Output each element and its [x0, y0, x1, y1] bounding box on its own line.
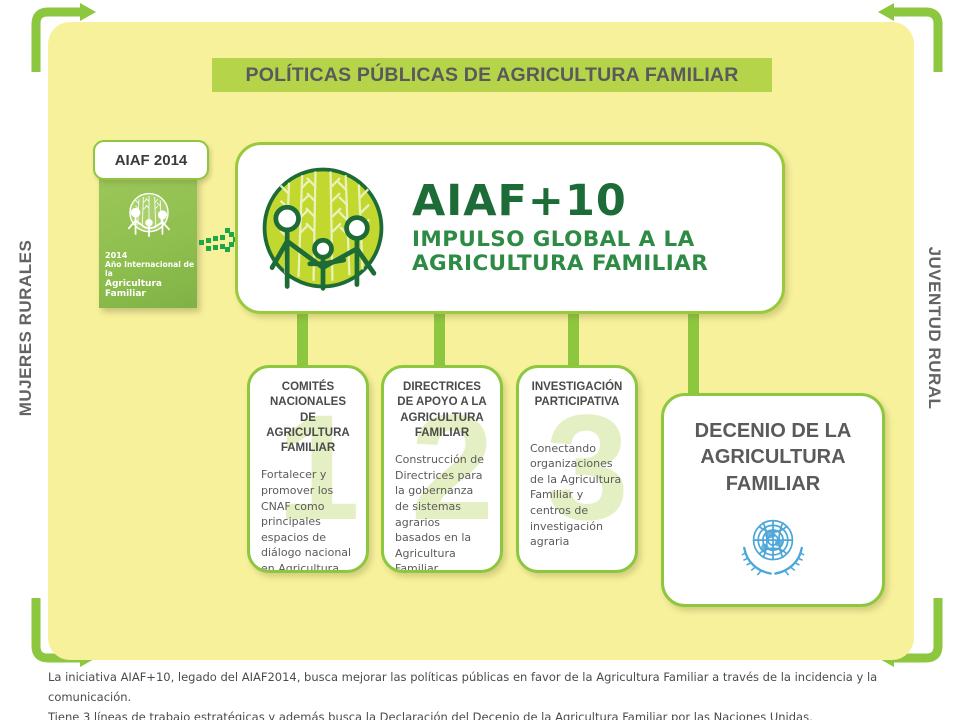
- side-label-mujeres-rurales: MUJERES RURALES: [16, 218, 36, 438]
- aiaf-plus-10-logo-box[interactable]: AIAF+10 IMPULSO GLOBAL A LA AGRICULTURA …: [235, 142, 785, 314]
- side-label-juventud-rural: JUVENTUD RURAL: [924, 218, 944, 438]
- logo-title: AIAF+10: [412, 180, 708, 223]
- logo-subtitle-line-1: IMPULSO GLOBAL A LA: [412, 228, 708, 253]
- aiaf-2014-chip-label: AIAF 2014: [115, 152, 188, 169]
- decenio-title: DECENIO DE LA AGRICULTURA FAMILIAR: [664, 418, 882, 497]
- footer-note: La iniciativa AIAF+10, legado del AIAF20…: [48, 668, 928, 720]
- strategy-card-2[interactable]: 2 DIRECTRICES DE APOYO A LA AGRICULTURA …: [381, 365, 503, 573]
- connector-line-decenio: [688, 300, 699, 400]
- poster-line-2: Año Internacional de la: [105, 261, 197, 279]
- card-2-title: DIRECTRICES DE APOYO A LA AGRICULTURA FA…: [395, 380, 489, 441]
- card-1-title: COMITÉS NACIONALES DE AGRICULTURA FAMILI…: [261, 380, 355, 456]
- infographic-root: MUJERES RURALES JUVENTUD RURAL POLÍTICAS…: [0, 0, 960, 720]
- family-globe-icon: [121, 188, 177, 244]
- card-3-body: Conectando organizaciones de la Agricult…: [530, 441, 624, 550]
- poster-line-3: Agricultura Familiar: [105, 279, 197, 300]
- decenio-box[interactable]: DECENIO DE LA AGRICULTURA FAMILIAR: [661, 393, 885, 607]
- footer-line-2: Tiene 3 líneas de trabajo estratégicas y…: [48, 708, 928, 720]
- card-2-body: Construcción de Directrices para la gobe…: [395, 452, 489, 573]
- card-3-title: INVESTIGACIÓN PARTICIPATIVA: [530, 380, 624, 411]
- card-1-body: Fortalecer y promover los CNAF como prin…: [261, 467, 355, 573]
- strategy-card-1[interactable]: 1 COMITÉS NACIONALES DE AGRICULTURA FAMI…: [247, 365, 369, 573]
- page-title-text: POLÍTICAS PÚBLICAS DE AGRICULTURA FAMILI…: [246, 64, 739, 87]
- united-nations-emblem-icon: [734, 509, 812, 584]
- aiaf-2014-poster[interactable]: 2014 Año Internacional de la Agricultura…: [99, 176, 197, 308]
- strategy-card-3[interactable]: 3 INVESTIGACIÓN PARTICIPATIVA Conectando…: [516, 365, 638, 573]
- footer-line-1: La iniciativa AIAF+10, legado del AIAF20…: [48, 668, 928, 708]
- aiaf-plus-10-logo-icon: [238, 162, 408, 294]
- logo-subtitle-line-2: AGRICULTURA FAMILIAR: [412, 252, 708, 277]
- aiaf-plus-10-logo-text: AIAF+10 IMPULSO GLOBAL A LA AGRICULTURA …: [408, 180, 708, 277]
- poster-caption: 2014 Año Internacional de la Agricultura…: [105, 251, 197, 300]
- aiaf-2014-chip[interactable]: AIAF 2014: [93, 140, 209, 180]
- page-title: POLÍTICAS PÚBLICAS DE AGRICULTURA FAMILI…: [212, 58, 772, 92]
